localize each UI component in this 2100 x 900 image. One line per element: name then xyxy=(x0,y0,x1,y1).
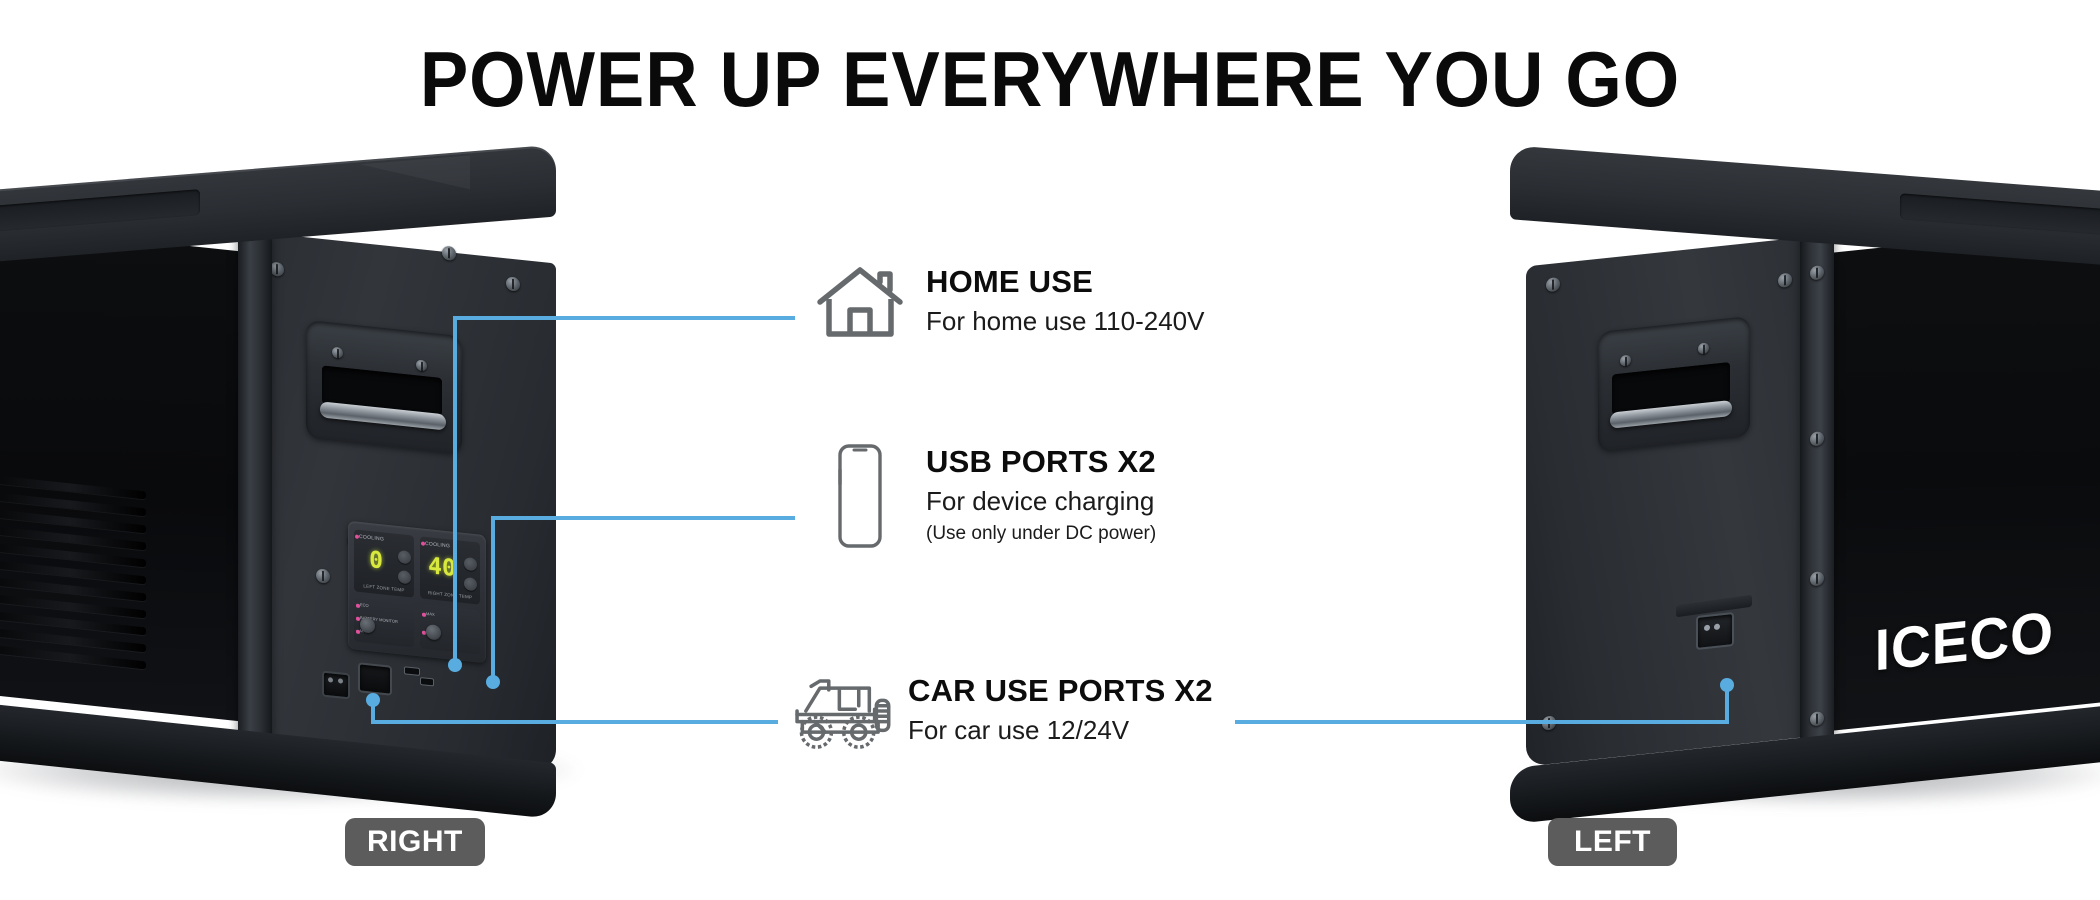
fridge-left-side-face xyxy=(1526,236,1816,766)
lid-facet xyxy=(360,155,470,198)
down-arrow-button[interactable] xyxy=(398,570,411,584)
callout-text: HOME USE For home use 110-240V xyxy=(926,265,1204,339)
lid-notch xyxy=(0,189,200,235)
lid-notch xyxy=(1900,193,2100,237)
callout-subtitle: For home use 110-240V xyxy=(926,305,1204,339)
mode-panel-right[interactable]: MAX ECO xyxy=(420,604,480,654)
handle-recess xyxy=(306,320,462,454)
screw xyxy=(270,261,284,276)
usb-ports[interactable] xyxy=(404,666,436,687)
badge-label: RIGHT xyxy=(367,825,463,858)
screw xyxy=(1620,355,1631,367)
fridge-front-face xyxy=(0,217,266,724)
callout-subtitle: For car use 12/24V xyxy=(908,714,1213,748)
screw xyxy=(1810,571,1824,586)
mode-indicator-dot xyxy=(422,613,426,617)
control-zone-right[interactable]: COOLING 40 RIGHT ZONE TEMP xyxy=(420,536,480,604)
corner-pillar xyxy=(238,230,272,746)
up-arrow-button[interactable] xyxy=(464,557,477,571)
mode-indicator-dot xyxy=(422,631,426,635)
offroad-vehicle-icon xyxy=(790,665,894,757)
corner-pillar xyxy=(1800,230,1834,750)
callout-usb-ports: USB PORTS X2 For device charging (Use on… xyxy=(808,442,1156,550)
up-arrow-button[interactable] xyxy=(398,550,411,564)
right-zone-temperature: 40 xyxy=(420,552,464,583)
mode-label-eco: ECO xyxy=(360,602,369,608)
screw xyxy=(316,568,330,583)
screw xyxy=(442,246,456,261)
handle-recess xyxy=(1598,316,1750,452)
screw xyxy=(1810,711,1824,726)
left-zone-temperature: 0 xyxy=(354,545,398,576)
control-zone-left[interactable]: COOLING 0 LEFT ZONE TEMP xyxy=(354,529,414,597)
badge-label: LEFT xyxy=(1574,825,1651,858)
screw xyxy=(416,359,427,371)
mode-panel-left[interactable]: ECO BATTERY MONITOR MAX xyxy=(354,597,414,647)
fridge-right-side-face xyxy=(256,232,556,772)
callout-text: USB PORTS X2 For device charging (Use on… xyxy=(926,445,1156,547)
smartphone-icon xyxy=(808,442,912,550)
vent-grille xyxy=(0,471,156,687)
dc-car-port[interactable] xyxy=(1696,612,1734,650)
dc-car-port[interactable] xyxy=(322,671,350,700)
cooling-label: COOLING xyxy=(359,534,384,543)
mode-knob[interactable] xyxy=(426,624,441,641)
mode-indicator-dot xyxy=(356,630,360,634)
callout-heading: CAR USE PORTS X2 xyxy=(908,674,1213,709)
screw xyxy=(332,347,343,359)
badge-right-view: RIGHT xyxy=(345,818,485,866)
screw xyxy=(1778,273,1792,288)
ac-home-inlet-port[interactable] xyxy=(358,662,392,696)
screw xyxy=(1698,342,1709,354)
mode-label-max: MAX xyxy=(426,611,435,617)
right-zone-label: RIGHT ZONE TEMP xyxy=(420,589,480,600)
control-panel[interactable]: COOLING 0 LEFT ZONE TEMP COOLING 40 RIGH… xyxy=(348,521,486,664)
callout-subtitle: For device charging xyxy=(926,485,1156,519)
cooling-label: COOLING xyxy=(425,541,450,550)
screw xyxy=(1810,265,1824,280)
screw xyxy=(1542,715,1556,730)
callout-note: (Use only under DC power) xyxy=(926,522,1156,547)
product-unit-right-view: COOLING 0 LEFT ZONE TEMP COOLING 40 RIGH… xyxy=(0,196,600,796)
left-zone-label: LEFT ZONE TEMP xyxy=(354,582,414,593)
callout-car-use-ports: CAR USE PORTS X2 For car use 12/24V xyxy=(790,665,1213,757)
callout-text: CAR USE PORTS X2 For car use 12/24V xyxy=(908,674,1213,748)
screw xyxy=(1546,277,1560,292)
callout-heading: HOME USE xyxy=(926,265,1204,300)
badge-left-view: LEFT xyxy=(1548,818,1677,866)
callout-heading: USB PORTS X2 xyxy=(926,445,1156,480)
house-icon xyxy=(808,262,912,342)
down-arrow-button[interactable] xyxy=(464,577,477,591)
page-title: POWER UP EVERYWHERE YOU GO xyxy=(74,34,2027,125)
screw xyxy=(506,276,520,291)
screw xyxy=(1810,431,1824,446)
mode-indicator-dot xyxy=(356,604,360,608)
product-unit-left-view: ICECO xyxy=(1500,196,2100,796)
mode-indicator-dot xyxy=(356,617,360,621)
callout-home-use: HOME USE For home use 110-240V xyxy=(808,262,1204,342)
